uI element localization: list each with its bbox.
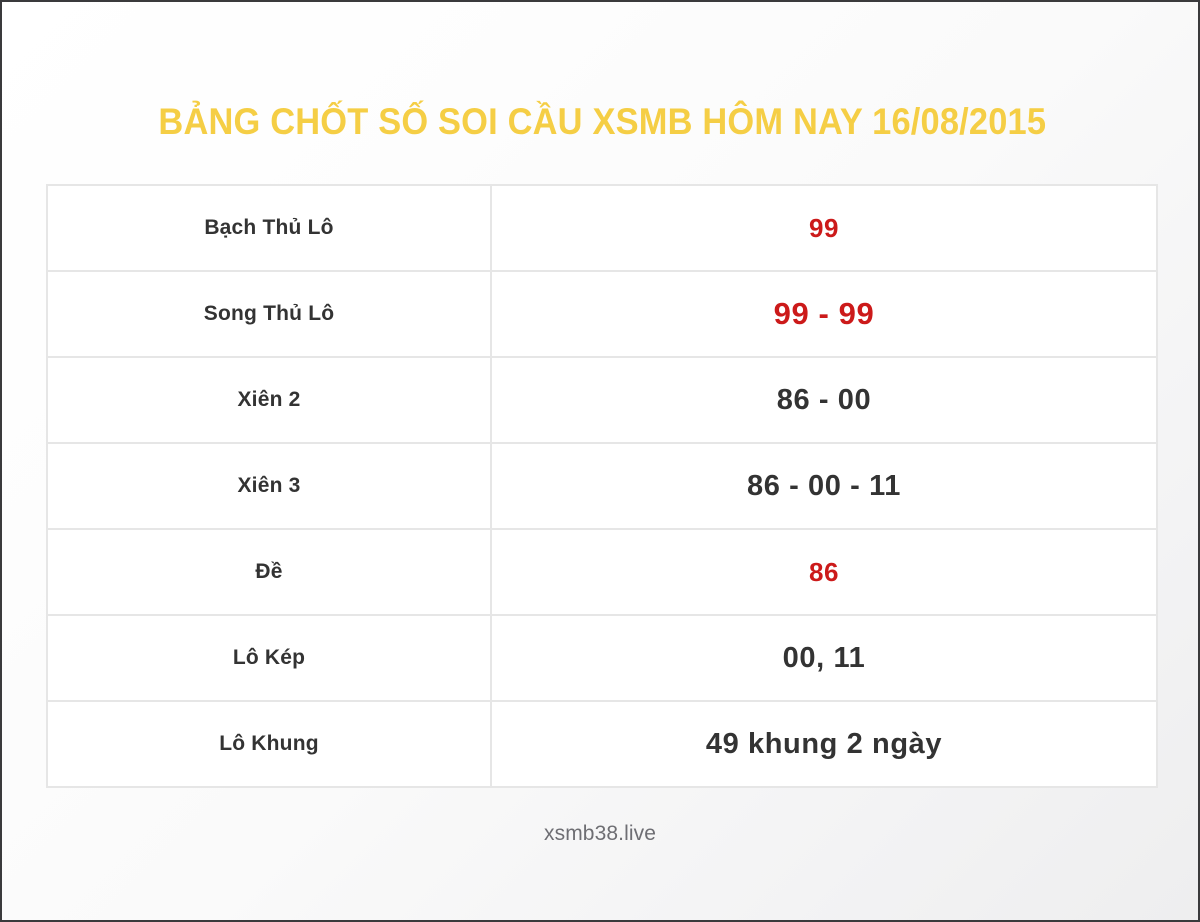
page-title-container: BẢNG CHỐT SỐ SOI CẦU XSMB HÔM NAY 16/08/… bbox=[46, 94, 1158, 150]
page-title: BẢNG CHỐT SỐ SOI CẦU XSMB HÔM NAY 16/08/… bbox=[158, 101, 1046, 143]
row-label-xien-2: Xiên 2 bbox=[48, 358, 492, 444]
table-row: Lô Khung 49 khung 2 ngày bbox=[48, 702, 1158, 788]
row-label-bach-thu-lo: Bạch Thủ Lô bbox=[48, 186, 492, 272]
table-row: Đề 86 bbox=[48, 530, 1158, 616]
prediction-table: Bạch Thủ Lô 99 Song Thủ Lô 99 - 99 Xiên … bbox=[46, 184, 1158, 788]
row-value-xien-3: 86 - 00 - 11 bbox=[492, 444, 1158, 530]
table-row: Song Thủ Lô 99 - 99 bbox=[48, 272, 1158, 358]
row-value-lo-khung: 49 khung 2 ngày bbox=[492, 702, 1158, 788]
row-label-lo-khung: Lô Khung bbox=[48, 702, 492, 788]
row-value-lo-kep: 00, 11 bbox=[492, 616, 1158, 702]
row-value-bach-thu-lo: 99 bbox=[492, 186, 1158, 272]
row-value-xien-2: 86 - 00 bbox=[492, 358, 1158, 444]
lottery-prediction-card: BẢNG CHỐT SỐ SOI CẦU XSMB HÔM NAY 16/08/… bbox=[0, 0, 1200, 922]
row-label-xien-3: Xiên 3 bbox=[48, 444, 492, 530]
table-row: Xiên 2 86 - 00 bbox=[48, 358, 1158, 444]
row-label-song-thu-lo: Song Thủ Lô bbox=[48, 272, 492, 358]
row-label-lo-kep: Lô Kép bbox=[48, 616, 492, 702]
row-value-song-thu-lo: 99 - 99 bbox=[492, 272, 1158, 358]
row-label-de: Đề bbox=[48, 530, 492, 616]
footer-site-name: xsmb38.live bbox=[2, 822, 1198, 846]
table-row: Bạch Thủ Lô 99 bbox=[48, 186, 1158, 272]
row-value-de: 86 bbox=[492, 530, 1158, 616]
table-row: Lô Kép 00, 11 bbox=[48, 616, 1158, 702]
table-row: Xiên 3 86 - 00 - 11 bbox=[48, 444, 1158, 530]
